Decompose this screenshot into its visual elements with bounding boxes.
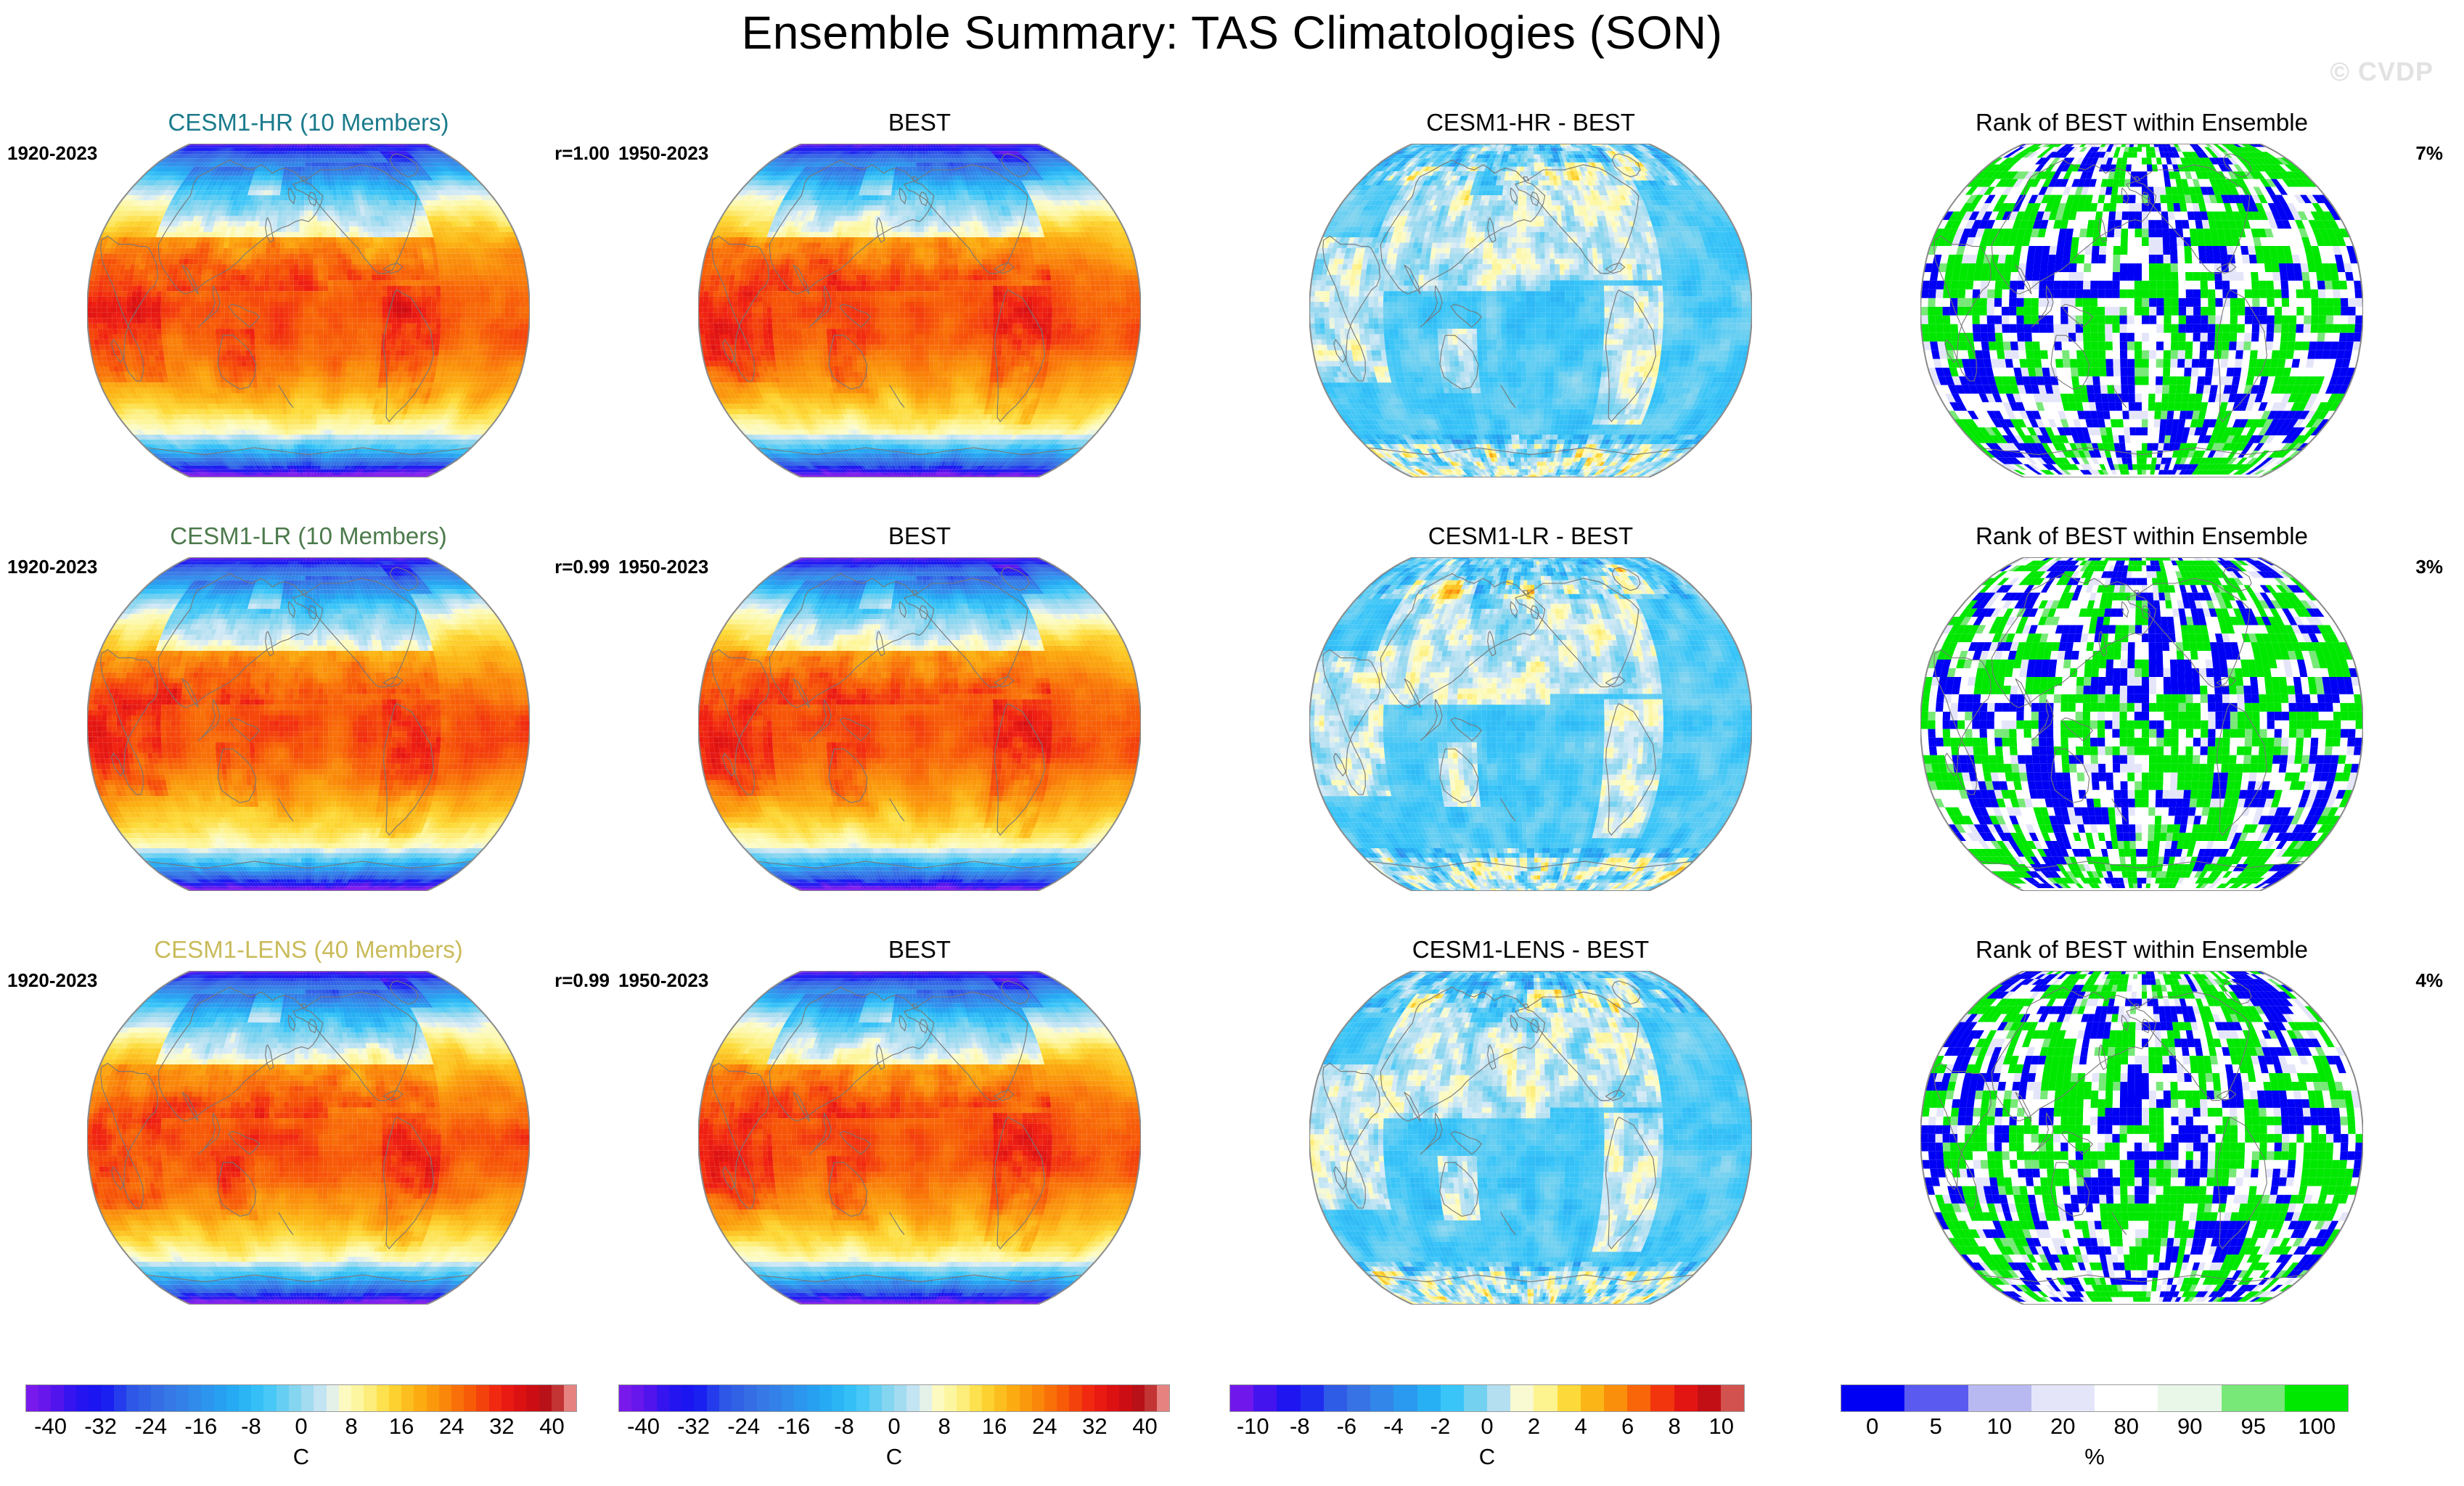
map-cesm1-lens-model[interactable] (87, 971, 530, 1305)
colorbar-segment (1487, 1385, 1510, 1411)
colorbar-segment (1841, 1385, 1904, 1411)
panel-cesm1-hr-obs[interactable]: BEST1950-2023 (618, 109, 1221, 519)
map-cesm1-lens-obs[interactable] (698, 971, 1141, 1305)
colorbar-segment (1253, 1385, 1277, 1411)
colorbar-segment (1094, 1385, 1107, 1411)
panel-cesm1-lr-diff[interactable]: CESM1-LR - BEST (1229, 522, 1832, 932)
rank-value-cesm1-lens: 4% (2415, 969, 2443, 992)
panel-cesm1-lr-rank[interactable]: Rank of BEST within Ensemble3% (1841, 522, 2443, 932)
rank-value-cesm1-hr: 7% (2415, 142, 2443, 165)
colorbar-tick: 10 (1708, 1413, 1733, 1440)
colorbar-segment (327, 1385, 339, 1411)
panel-title-cesm1-lens-obs: BEST (618, 936, 1221, 964)
map-cesm1-lr-model[interactable] (87, 557, 530, 891)
colorbar-segment (1069, 1385, 1081, 1411)
panel-cesm1-lens-model[interactable]: CESM1-LENS (40 Members)1920-2023r=0.99 (7, 936, 610, 1346)
panel-title-cesm1-lr-obs: BEST (618, 522, 1221, 550)
colorbar-tick: 16 (389, 1413, 414, 1440)
map-row-cesm1-lens: CESM1-LENS (40 Members)1920-2023r=0.99BE… (0, 936, 2464, 1346)
colorbar-tick: 0 (1866, 1413, 1878, 1440)
map-row-cesm1-hr: CESM1-HR (10 Members)1920-2023r=1.00BEST… (0, 109, 2464, 519)
colorbar-tick: -32 (84, 1413, 117, 1440)
map-row-cesm1-lr: CESM1-LR (10 Members)1920-2023r=0.99BEST… (0, 522, 2464, 932)
colorbar-segment (782, 1385, 794, 1411)
colorbar-segment (970, 1385, 982, 1411)
map-cesm1-hr-obs[interactable] (698, 144, 1141, 477)
period-label-cesm1-lr-obs: 1950-2023 (618, 556, 708, 578)
map-cesm1-lr-obs[interactable] (698, 557, 1141, 891)
colorbar-segment (1510, 1385, 1534, 1411)
map-cesm1-hr-diff[interactable] (1309, 144, 1752, 477)
colorbar-segment (631, 1385, 644, 1411)
panel-title-cesm1-hr-rank: Rank of BEST within Ensemble (1841, 109, 2443, 136)
page-title: Ensemble Summary: TAS Climatologies (SON… (0, 6, 2464, 59)
colorbar-tick: -8 (241, 1413, 261, 1440)
colorbar-segment (869, 1385, 882, 1411)
colorbar-segment (201, 1385, 213, 1411)
colorbar-tick: -16 (184, 1413, 217, 1440)
colorbar-segment (1904, 1385, 1968, 1411)
colorbar-segment (707, 1385, 719, 1411)
panel-title-cesm1-lr-model: CESM1-LR (10 Members) (7, 522, 610, 550)
colorbar-segment (339, 1385, 351, 1411)
map-cesm1-lens-diff[interactable] (1309, 971, 1752, 1305)
colorbar-segment (539, 1385, 552, 1411)
colorbar-difference: -10-8-6-4-20246810C (1229, 1384, 1745, 1442)
colorbar-tick: -10 (1237, 1413, 1269, 1440)
colorbar-segment (1082, 1385, 1094, 1411)
colorbar-segment (1581, 1385, 1604, 1411)
panel-title-cesm1-hr-model: CESM1-HR (10 Members) (7, 109, 610, 136)
colorbar-unit-rank-percent: % (2084, 1444, 2105, 1470)
colorbar-segment (657, 1385, 669, 1411)
colorbar-segment (769, 1385, 782, 1411)
colorbar-segment (414, 1385, 426, 1411)
colorbar-segment (489, 1385, 502, 1411)
colorbar-tick: 20 (2050, 1413, 2075, 1440)
panel-title-cesm1-hr-obs: BEST (618, 109, 1221, 136)
colorbar-segment (401, 1385, 414, 1411)
colorbar-tick: 4 (1574, 1413, 1587, 1440)
colorbar-segment (176, 1385, 189, 1411)
colorbar-segment (389, 1385, 401, 1411)
colorbar-segment (644, 1385, 656, 1411)
colorbar-segment (732, 1385, 744, 1411)
panel-cesm1-lr-model[interactable]: CESM1-LR (10 Members)1920-2023r=0.99 (7, 522, 610, 932)
colorbar-segment (932, 1385, 944, 1411)
colorbar-segment (1393, 1385, 1417, 1411)
colorbar-segment (1020, 1385, 1032, 1411)
colorbar-segment (1132, 1385, 1145, 1411)
colorbar-segment (526, 1385, 539, 1411)
colorbar-tick: 0 (295, 1413, 307, 1440)
colorbar-tick: 8 (938, 1413, 950, 1440)
colorbar-segment (682, 1385, 694, 1411)
map-cesm1-hr-rank[interactable] (1920, 144, 2363, 477)
colorbar-tick: -24 (134, 1413, 167, 1440)
colorbar-segment (1145, 1385, 1157, 1411)
colorbar-tick: 40 (539, 1413, 564, 1440)
colorbar-tick: 6 (1621, 1413, 1634, 1440)
colorbar-tick: -2 (1430, 1413, 1451, 1440)
colorbar-strip-climatology-obs (618, 1384, 1170, 1412)
colorbar-segment (564, 1385, 576, 1411)
colorbar-segment (552, 1385, 564, 1411)
colorbar-tick: 8 (345, 1413, 357, 1440)
panel-title-cesm1-lr-rank: Rank of BEST within Ensemble (1841, 522, 2443, 550)
colorbar-tick: 0 (888, 1413, 900, 1440)
colorbar-segment (994, 1385, 1007, 1411)
colorbar-segment (114, 1385, 126, 1411)
colorbar-segment (982, 1385, 994, 1411)
colorbar-segment (2222, 1385, 2285, 1411)
colorbar-segment (26, 1385, 38, 1411)
colorbar-tick: 16 (982, 1413, 1007, 1440)
colorbar-tick: 10 (1987, 1413, 2012, 1440)
colorbar-tick: 32 (489, 1413, 514, 1440)
colorbar-segment (1277, 1385, 1300, 1411)
colorbar-segment (377, 1385, 389, 1411)
colorbar-segment (669, 1385, 682, 1411)
colorbar-segment (844, 1385, 856, 1411)
colorbar-segment (263, 1385, 276, 1411)
colorbar-climatology-left: -40-32-24-16-80816243240C (25, 1384, 577, 1442)
panel-title-cesm1-lr-diff: CESM1-LR - BEST (1229, 522, 1832, 550)
correlation-value-cesm1-hr: r=1.00 (554, 142, 610, 165)
panel-cesm1-lens-obs[interactable]: BEST1950-2023 (618, 936, 1221, 1346)
colorbar-segment (2158, 1385, 2221, 1411)
panel-title-cesm1-hr-diff: CESM1-HR - BEST (1229, 109, 1832, 136)
panel-cesm1-hr-diff[interactable]: CESM1-HR - BEST (1229, 109, 1832, 519)
panel-cesm1-hr-rank[interactable]: Rank of BEST within Ensemble7% (1841, 109, 2443, 519)
colorbar-tick: 90 (2177, 1413, 2202, 1440)
colorbar-segment (126, 1385, 139, 1411)
colorbar-segment (1650, 1385, 1674, 1411)
colorbar-segment (1968, 1385, 2031, 1411)
colorbar-segment (619, 1385, 631, 1411)
colorbar-strip-climatology-left (25, 1384, 577, 1412)
colorbar-strip-difference (1229, 1384, 1745, 1412)
colorbar-segment (439, 1385, 451, 1411)
colorbar-segment (76, 1385, 89, 1411)
colorbar-segment (1301, 1385, 1324, 1411)
colorbar-segment (744, 1385, 756, 1411)
colorbar-segment (906, 1385, 919, 1411)
colorbar-tick: 8 (1669, 1413, 1681, 1440)
colorbar-segment (151, 1385, 163, 1411)
colorbar-segment (514, 1385, 526, 1411)
colorbar-segment (164, 1385, 176, 1411)
period-label-cesm1-lens-obs: 1950-2023 (618, 969, 708, 992)
colorbar-segment (1107, 1385, 1119, 1411)
map-cesm1-hr-model[interactable] (87, 144, 530, 477)
colorbar-segment (51, 1385, 63, 1411)
colorbar-segment (301, 1385, 314, 1411)
colorbar-segment (807, 1385, 819, 1411)
colorbar-tick: -24 (727, 1413, 760, 1440)
colorbar-segment (856, 1385, 869, 1411)
colorbar-segment (289, 1385, 301, 1411)
colorbar-segment (1558, 1385, 1581, 1411)
colorbar-tick: -40 (627, 1413, 660, 1440)
colorbar-segment (1698, 1385, 1721, 1411)
colorbar-segment (251, 1385, 263, 1411)
colorbar-segment (1119, 1385, 1131, 1411)
colorbar-segment (226, 1385, 239, 1411)
colorbar-ticks-climatology-obs: -40-32-24-16-80816243240 (618, 1412, 1170, 1442)
colorbar-segment (1721, 1385, 1744, 1411)
colorbar-segment (1464, 1385, 1487, 1411)
colorbar-tick: -8 (1290, 1413, 1310, 1440)
colorbar-segment (1044, 1385, 1057, 1411)
colorbar-segment (101, 1385, 113, 1411)
colorbar-segment (1441, 1385, 1464, 1411)
colorbar-segment (139, 1385, 151, 1411)
colorbar-tick: -40 (34, 1413, 67, 1440)
colorbar-segment (214, 1385, 226, 1411)
colorbar-segment (2031, 1385, 2095, 1411)
colorbar-tick: 24 (1032, 1413, 1057, 1440)
colorbar-segment (476, 1385, 488, 1411)
colorbar-segment (1324, 1385, 1347, 1411)
colorbar-unit-climatology-left: C (293, 1444, 309, 1470)
colorbar-tick: 5 (1930, 1413, 1942, 1440)
colorbar-segment (794, 1385, 806, 1411)
colorbar-segment (757, 1385, 769, 1411)
colorbar-segment (451, 1385, 464, 1411)
panel-title-cesm1-lens-rank: Rank of BEST within Ensemble (1841, 936, 2443, 964)
colorbar-segment (819, 1385, 832, 1411)
correlation-value-cesm1-lens: r=0.99 (554, 969, 610, 992)
colorbar-tick: 0 (1481, 1413, 1493, 1440)
period-label-cesm1-lr-model: 1920-2023 (7, 556, 97, 578)
colorbar-segment (1417, 1385, 1441, 1411)
correlation-value-cesm1-lr: r=0.99 (554, 556, 610, 578)
colorbar-segment (1534, 1385, 1557, 1411)
rank-value-cesm1-lr: 3% (2415, 556, 2443, 578)
colorbar-segment (920, 1385, 932, 1411)
panel-title-cesm1-lens-diff: CESM1-LENS - BEST (1229, 936, 1832, 964)
colorbar-tick: 2 (1528, 1413, 1540, 1440)
colorbar-segment (364, 1385, 376, 1411)
map-cesm1-lr-rank[interactable] (1920, 557, 2363, 891)
colorbar-tick: 95 (2241, 1413, 2266, 1440)
colorbar-segment (1057, 1385, 1069, 1411)
colorbar-segment (277, 1385, 289, 1411)
colorbar-segment (1230, 1385, 1253, 1411)
colorbar-segment (427, 1385, 439, 1411)
colorbar-tick: -4 (1383, 1413, 1404, 1440)
colorbar-unit-climatology-obs: C (886, 1444, 902, 1470)
colorbar-segment (89, 1385, 101, 1411)
map-cesm1-lr-diff[interactable] (1309, 557, 1752, 891)
colorbar-unit-difference: C (1479, 1444, 1495, 1470)
colorbar-tick: 80 (2114, 1413, 2139, 1440)
colorbar-segment (2095, 1385, 2158, 1411)
colorbar-segment (38, 1385, 51, 1411)
colorbar-segment (351, 1385, 364, 1411)
colorbar-tick: -16 (777, 1413, 810, 1440)
colorbar-strip-rank-percent (1841, 1384, 2349, 1412)
colorbar-segment (694, 1385, 706, 1411)
colorbar-segment (882, 1385, 894, 1411)
colorbar-segment (894, 1385, 906, 1411)
colorbar-segment (189, 1385, 201, 1411)
colorbar-ticks-rank-percent: 051020809095100 (1841, 1412, 2349, 1442)
colorbar-rank-percent: 051020809095100% (1841, 1384, 2349, 1442)
colorbar-tick: -6 (1337, 1413, 1357, 1440)
colorbar-segment (719, 1385, 732, 1411)
colorbar-segment (2285, 1385, 2348, 1411)
panel-cesm1-hr-model[interactable]: CESM1-HR (10 Members)1920-2023r=1.00 (7, 109, 610, 519)
colorbar-tick: -8 (834, 1413, 854, 1440)
colorbar-tick: 32 (1082, 1413, 1107, 1440)
colorbar-segment (1674, 1385, 1698, 1411)
colorbar-climatology-obs: -40-32-24-16-80816243240C (618, 1384, 1170, 1442)
colorbar-ticks-difference: -10-8-6-4-20246810 (1229, 1412, 1745, 1442)
colorbar-tick: 24 (439, 1413, 464, 1440)
period-label-cesm1-hr-obs: 1950-2023 (618, 142, 708, 165)
colorbar-segment (1370, 1385, 1393, 1411)
colorbar-segment (944, 1385, 957, 1411)
colorbar-segment (1627, 1385, 1650, 1411)
period-label-cesm1-lens-model: 1920-2023 (7, 969, 97, 992)
colorbar-segment (1007, 1385, 1019, 1411)
colorbar-tick: 40 (1132, 1413, 1157, 1440)
cvdp-watermark: © CVDP (2330, 57, 2434, 87)
colorbar-segment (832, 1385, 844, 1411)
panel-cesm1-lr-obs[interactable]: BEST1950-2023 (618, 522, 1221, 932)
colorbar-segment (1347, 1385, 1370, 1411)
colorbar-segment (314, 1385, 326, 1411)
panel-title-cesm1-lens-model: CESM1-LENS (40 Members) (7, 936, 610, 964)
colorbar-tick: -32 (677, 1413, 710, 1440)
colorbar-segment (1032, 1385, 1044, 1411)
colorbar-segment (1604, 1385, 1627, 1411)
colorbar-segment (1157, 1385, 1169, 1411)
colorbar-segment (502, 1385, 514, 1411)
colorbar-segment (239, 1385, 251, 1411)
period-label-cesm1-hr-model: 1920-2023 (7, 142, 97, 165)
colorbar-tick: 100 (2298, 1413, 2336, 1440)
panel-cesm1-lens-rank[interactable]: Rank of BEST within Ensemble4% (1841, 936, 2443, 1346)
colorbar-segment (464, 1385, 476, 1411)
colorbar-segment (957, 1385, 969, 1411)
panel-cesm1-lens-diff[interactable]: CESM1-LENS - BEST (1229, 936, 1832, 1346)
colorbar-ticks-climatology-left: -40-32-24-16-80816243240 (25, 1412, 577, 1442)
map-cesm1-lens-rank[interactable] (1920, 971, 2363, 1305)
colorbar-segment (64, 1385, 76, 1411)
